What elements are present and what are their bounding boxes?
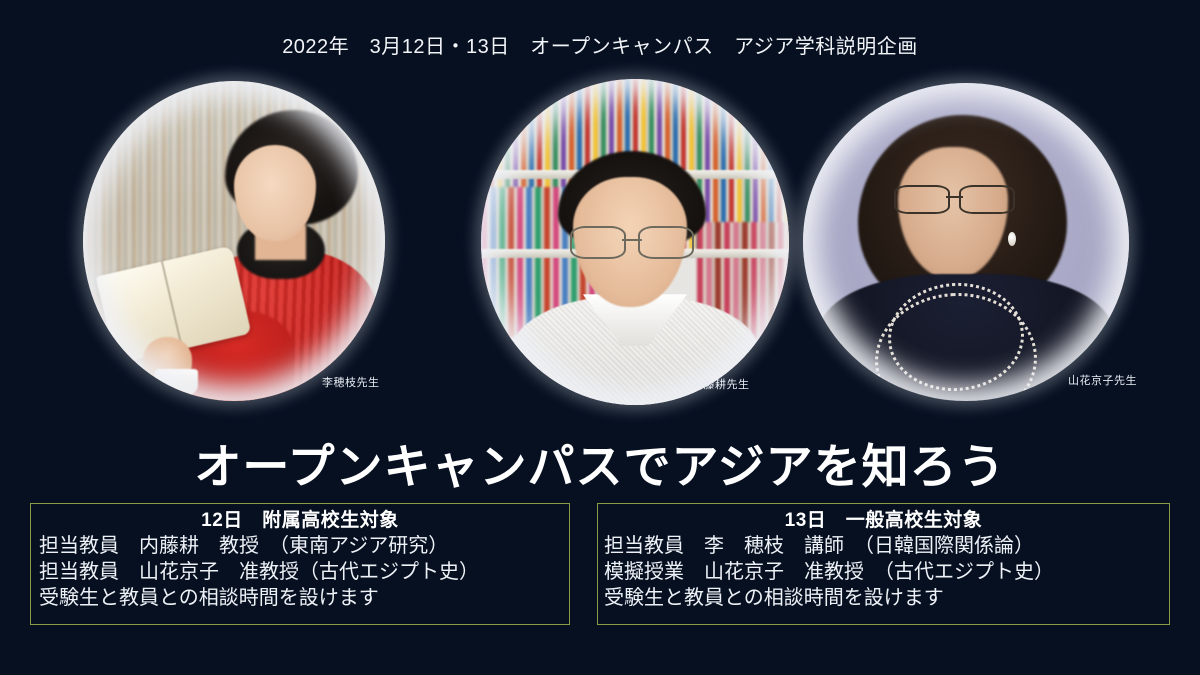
- info-box-day-12: 12日 附属高校生対象 担当教員 内藤耕 教授 （東南アジア研究） 担当教員 山…: [30, 503, 570, 625]
- info-box-line: 受験生と教員との相談時間を設けます: [31, 585, 569, 611]
- face: [234, 145, 316, 241]
- slide-header-text: 2022年 3月12日・13日 オープンキャンパス アジア学科説明企画: [0, 30, 1200, 59]
- info-box-line: 担当教員 山花京子 准教授（古代エジプト史）: [31, 559, 569, 585]
- info-box-line: 模擬授業 山花京子 准教授 （古代エジプト史）: [598, 559, 1169, 585]
- glasses-icon: [894, 185, 1015, 210]
- portrait-photo-3: [803, 83, 1129, 401]
- info-box-title: 12日 附属高校生対象: [31, 509, 569, 533]
- info-box-line: 担当教員 内藤耕 教授 （東南アジア研究）: [31, 533, 569, 559]
- glasses-lens-right: [959, 185, 1015, 214]
- portrait-caption-3: 山花京子先生: [1068, 372, 1137, 388]
- portrait-photo-2: [481, 79, 789, 405]
- presentation-slide: 2022年 3月12日・13日 オープンキャンパス アジア学科説明企画: [0, 0, 1200, 675]
- glasses-lens-right: [638, 226, 694, 259]
- info-box-line: 担当教員 李 穂枝 講師 （日韓国際関係論）: [598, 533, 1169, 559]
- glasses-icon: [570, 226, 693, 255]
- portrait-caption-1: 李穂枝先生: [322, 374, 380, 390]
- info-box-day-13: 13日 一般高校生対象 担当教員 李 穂枝 講師 （日韓国際関係論） 模擬授業 …: [597, 503, 1170, 625]
- portrait-photo-2-image: [481, 79, 789, 405]
- portrait-photo-1-image: [83, 81, 385, 401]
- slide-headline: オープンキャンパスでアジアを知ろう: [0, 428, 1200, 497]
- cup: [155, 369, 197, 398]
- glasses-lens-left: [570, 226, 626, 259]
- portrait-photo-3-image: [803, 83, 1129, 401]
- info-box-line: 受験生と教員との相談時間を設けます: [598, 585, 1169, 611]
- portrait-caption-2: 内藤耕先生: [692, 376, 750, 392]
- glasses-lens-left: [894, 185, 950, 214]
- info-box-title: 13日 一般高校生対象: [598, 509, 1169, 533]
- portrait-photo-1: [83, 81, 385, 401]
